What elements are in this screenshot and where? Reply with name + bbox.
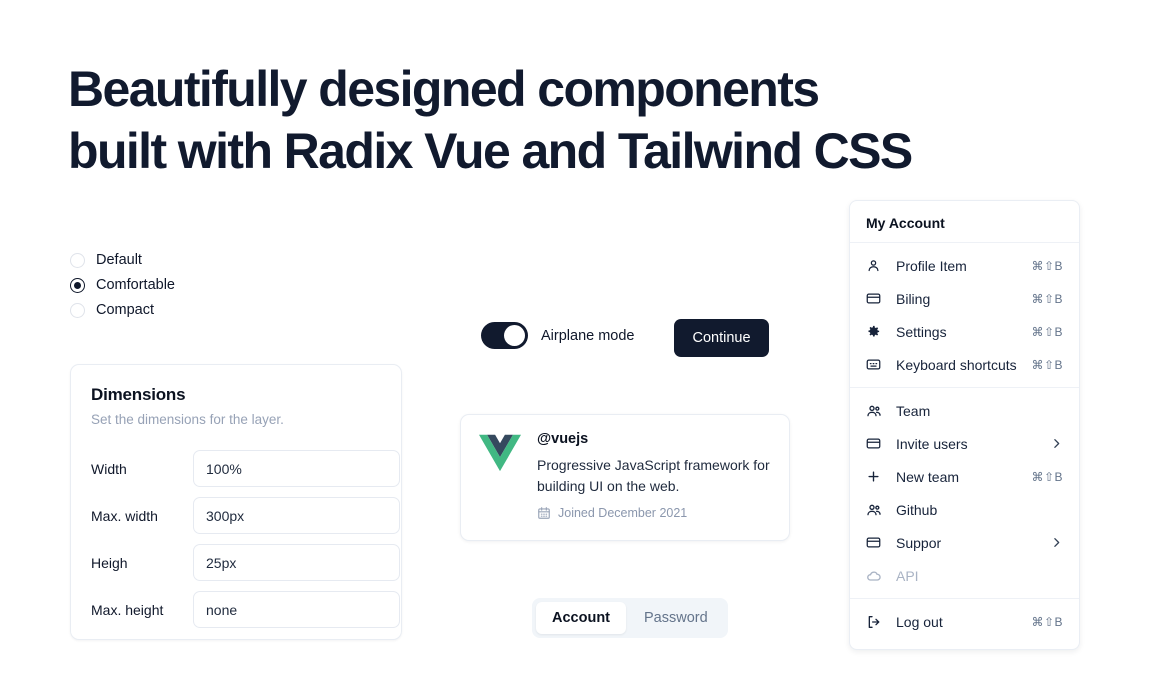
field-row-max-height: Max. height: [91, 586, 381, 633]
radio-option-compact[interactable]: Compact: [70, 298, 175, 323]
field-row-max-width: Max. width: [91, 492, 381, 539]
vue-handle: @vuejs: [537, 431, 771, 447]
menu-item-support[interactable]: Suppor: [850, 526, 1079, 559]
menu-item-label-support: Suppor: [896, 535, 1050, 551]
menu-shortcut-billing: ⌘⇧B: [1031, 292, 1063, 306]
menu-item-github[interactable]: Github: [850, 493, 1079, 526]
dimensions-subtitle: Set the dimensions for the layer.: [91, 412, 381, 427]
credit-card-icon: [866, 436, 884, 451]
menu-item-profile[interactable]: Profile Item ⌘⇧B: [850, 249, 1079, 282]
menu-item-billing[interactable]: Biling ⌘⇧B: [850, 282, 1079, 315]
menu-item-keyboard-shortcuts[interactable]: Keyboard shortcuts ⌘⇧B: [850, 348, 1079, 381]
menu-item-settings[interactable]: Settings ⌘⇧B: [850, 315, 1079, 348]
tab-account[interactable]: Account: [536, 602, 626, 634]
menu-item-new-team[interactable]: New team ⌘⇧B: [850, 460, 1079, 493]
gear-icon: [866, 324, 884, 339]
menu-item-label-keyboard-shortcuts: Keyboard shortcuts: [896, 357, 1031, 373]
menu-item-label-invite-users: Invite users: [896, 436, 1050, 452]
credit-card-icon: [866, 291, 884, 306]
field-row-width: Width: [91, 445, 381, 492]
keyboard-icon: [866, 357, 884, 372]
users-icon: [866, 502, 884, 518]
menu-group-logout: Log out ⌘⇧B: [850, 599, 1079, 644]
menu-shortcut-new-team: ⌘⇧B: [1031, 470, 1063, 484]
density-radio-group: Default Comfortable Compact: [70, 248, 175, 323]
menu-shortcut-keyboard-shortcuts: ⌘⇧B: [1031, 358, 1063, 372]
airplane-mode-row: Airplane mode: [481, 322, 635, 349]
page-title-line-2: built with Radix Vue and Tailwind CSS: [68, 120, 1028, 182]
switch-knob: [504, 325, 525, 346]
max-height-input[interactable]: [193, 591, 400, 628]
airplane-mode-switch[interactable]: [481, 322, 528, 349]
menu-shortcut-settings: ⌘⇧B: [1031, 325, 1063, 339]
radio-label-comfortable: Comfortable: [96, 278, 175, 293]
dimensions-card: Dimensions Set the dimensions for the la…: [70, 364, 402, 640]
chevron-right-icon: [1050, 437, 1063, 450]
users-icon: [866, 403, 884, 419]
menu-item-label-log-out: Log out: [896, 614, 1031, 630]
height-input[interactable]: [193, 544, 400, 581]
continue-button[interactable]: Continue: [674, 319, 769, 357]
menu-item-label-new-team: New team: [896, 469, 1031, 485]
menu-item-label-api: API: [896, 568, 1063, 584]
calendar-icon: [537, 506, 551, 520]
menu-item-invite-users[interactable]: Invite users: [850, 427, 1079, 460]
menu-item-label-profile: Profile Item: [896, 258, 1031, 274]
radio-option-comfortable[interactable]: Comfortable: [70, 273, 175, 298]
field-row-height: Heigh: [91, 539, 381, 586]
menu-group-team: Team Invite users New team ⌘⇧B: [850, 388, 1079, 598]
account-dropdown-menu: My Account Profile Item ⌘⇧B Biling: [849, 200, 1080, 650]
menu-item-label-settings: Settings: [896, 324, 1031, 340]
radio-label-default: Default: [96, 253, 142, 268]
page-title: Beautifully designed components built wi…: [68, 58, 1028, 182]
chevron-right-icon: [1050, 536, 1063, 549]
menu-item-api: API: [850, 559, 1079, 592]
field-label-height: Heigh: [91, 555, 193, 571]
menu-header-my-account: My Account: [850, 206, 1079, 242]
menu-item-label-team: Team: [896, 403, 1063, 419]
page-root: Beautifully designed components built wi…: [0, 0, 1152, 700]
vue-logo-icon: [479, 434, 521, 472]
max-width-input[interactable]: [193, 497, 400, 534]
menu-item-label-github: Github: [896, 502, 1063, 518]
field-label-max-width: Max. width: [91, 508, 193, 524]
credit-card-icon: [866, 535, 884, 550]
page-title-line-1: Beautifully designed components: [68, 61, 819, 117]
dimensions-fields: Width Max. width Heigh Max. height: [91, 445, 381, 633]
menu-item-label-billing: Biling: [896, 291, 1031, 307]
tab-password[interactable]: Password: [628, 602, 724, 634]
settings-tabs: Account Password: [532, 598, 728, 638]
logout-icon: [866, 614, 884, 630]
radio-label-compact: Compact: [96, 303, 154, 318]
field-label-max-height: Max. height: [91, 602, 193, 618]
menu-item-log-out[interactable]: Log out ⌘⇧B: [850, 605, 1079, 638]
vue-joined-row: Joined December 2021: [537, 506, 771, 520]
menu-shortcut-profile: ⌘⇧B: [1031, 259, 1063, 273]
menu-group-account: Profile Item ⌘⇧B Biling ⌘⇧B: [850, 243, 1079, 387]
vue-hover-card: @vuejs Progressive JavaScript framework …: [460, 414, 790, 541]
vue-description: Progressive JavaScript framework for bui…: [537, 455, 771, 497]
hover-card-body: @vuejs Progressive JavaScript framework …: [537, 431, 771, 524]
field-label-width: Width: [91, 461, 193, 477]
radio-option-default[interactable]: Default: [70, 248, 175, 273]
plus-icon: [866, 469, 884, 484]
user-icon: [866, 258, 884, 273]
dimensions-title: Dimensions: [91, 385, 381, 405]
menu-item-team[interactable]: Team: [850, 394, 1079, 427]
airplane-mode-label: Airplane mode: [541, 328, 635, 344]
radio-indicator-comfortable[interactable]: [70, 278, 85, 293]
width-input[interactable]: [193, 450, 400, 487]
radio-indicator-compact[interactable]: [70, 303, 85, 318]
cloud-icon: [866, 568, 884, 584]
vue-joined-text: Joined December 2021: [558, 506, 687, 520]
radio-indicator-default[interactable]: [70, 253, 85, 268]
menu-shortcut-log-out: ⌘⇧B: [1031, 615, 1063, 629]
